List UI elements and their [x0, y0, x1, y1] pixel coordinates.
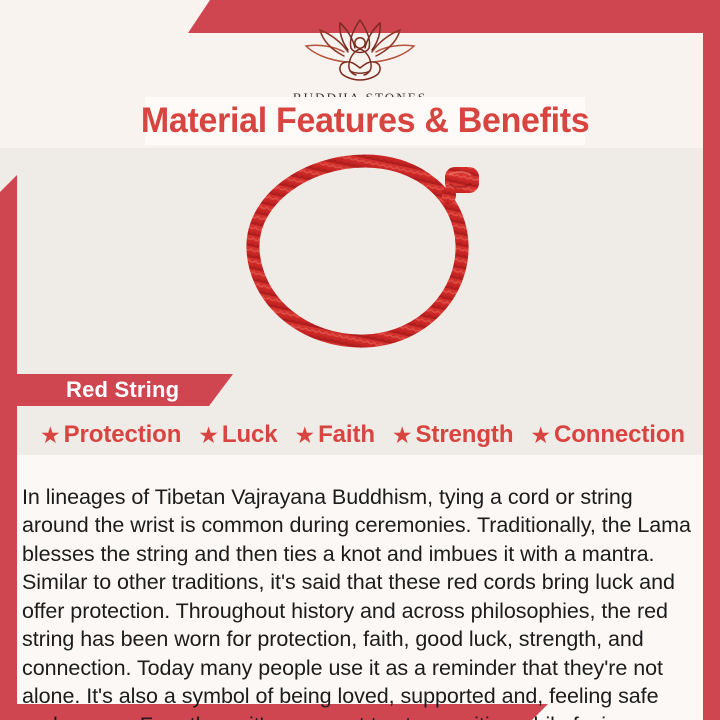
- description-text: In lineages of Tibetan Vajrayana Buddhis…: [22, 483, 700, 720]
- benefits-list: ★ Protection ★ Luck ★ Faith ★ Strength ★…: [40, 418, 685, 452]
- benefit-label: Protection: [64, 421, 182, 449]
- benefit-label: Faith: [318, 421, 375, 449]
- benefit-item-protection: ★ Protection: [40, 421, 181, 449]
- star-icon: ★: [530, 424, 551, 447]
- star-icon: ★: [294, 424, 315, 447]
- infographic-card: BUDDHA STONES Material Features & Benefi…: [0, 0, 720, 720]
- benefit-label: Luck: [222, 421, 278, 449]
- benefit-item-faith: ★ Faith: [294, 421, 374, 449]
- product-name-ribbon: Red String: [0, 374, 233, 406]
- star-icon: ★: [40, 424, 61, 447]
- star-icon: ★: [198, 424, 219, 447]
- benefit-label: Strength: [416, 421, 514, 449]
- benefit-item-luck: ★ Luck: [198, 421, 277, 449]
- benefit-item-connection: ★ Connection: [530, 421, 685, 449]
- page-title: Material Features & Benefits: [145, 97, 585, 145]
- lotus-meditation-icon: [294, 16, 426, 88]
- decorative-band-right: [703, 33, 720, 720]
- benefit-item-strength: ★ Strength: [392, 421, 514, 449]
- star-icon: ★: [392, 424, 413, 447]
- brand-logo: BUDDHA STONES: [0, 16, 720, 106]
- red-string-bracelet-illustration: [215, 149, 505, 354]
- product-name-label: Red String: [66, 377, 179, 403]
- product-image: [0, 148, 720, 355]
- benefit-label: Connection: [554, 421, 685, 449]
- page-title-text: Material Features & Benefits: [141, 101, 589, 141]
